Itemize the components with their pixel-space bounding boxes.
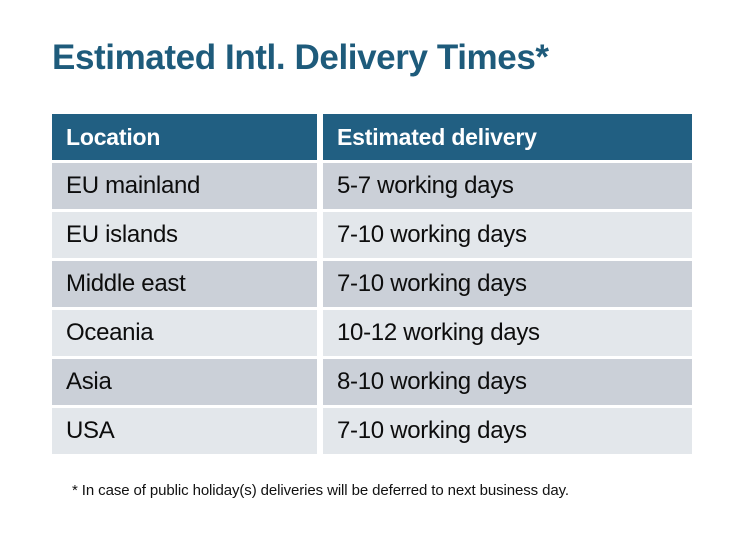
table-row: Middle east 7-10 working days <box>52 261 692 307</box>
page-title: Estimated Intl. Delivery Times* <box>52 36 692 80</box>
table-row: Asia 8-10 working days <box>52 359 692 405</box>
table-row: Oceania 10-12 working days <box>52 310 692 356</box>
cell-location: EU islands <box>52 212 317 258</box>
cell-location: USA <box>52 408 317 454</box>
cell-estimated-delivery: 10-12 working days <box>323 310 692 356</box>
table-header-row: Location Estimated delivery <box>52 114 692 160</box>
table-row: EU mainland 5-7 working days <box>52 163 692 209</box>
cell-estimated-delivery: 8-10 working days <box>323 359 692 405</box>
cell-estimated-delivery: 7-10 working days <box>323 408 692 454</box>
cell-location: EU mainland <box>52 163 317 209</box>
footnote-text: * In case of public holiday(s) deliverie… <box>72 481 712 501</box>
cell-location: Oceania <box>52 310 317 356</box>
delivery-times-page: Estimated Intl. Delivery Times* Location… <box>0 0 745 536</box>
column-header-estimated-delivery: Estimated delivery <box>323 114 692 160</box>
cell-location: Asia <box>52 359 317 405</box>
table-row: USA 7-10 working days <box>52 408 692 454</box>
table-row: EU islands 7-10 working days <box>52 212 692 258</box>
cell-location: Middle east <box>52 261 317 307</box>
cell-estimated-delivery: 7-10 working days <box>323 212 692 258</box>
cell-estimated-delivery: 7-10 working days <box>323 261 692 307</box>
column-header-location: Location <box>52 114 317 160</box>
delivery-times-table: Location Estimated delivery EU mainland … <box>52 114 692 454</box>
cell-estimated-delivery: 5-7 working days <box>323 163 692 209</box>
